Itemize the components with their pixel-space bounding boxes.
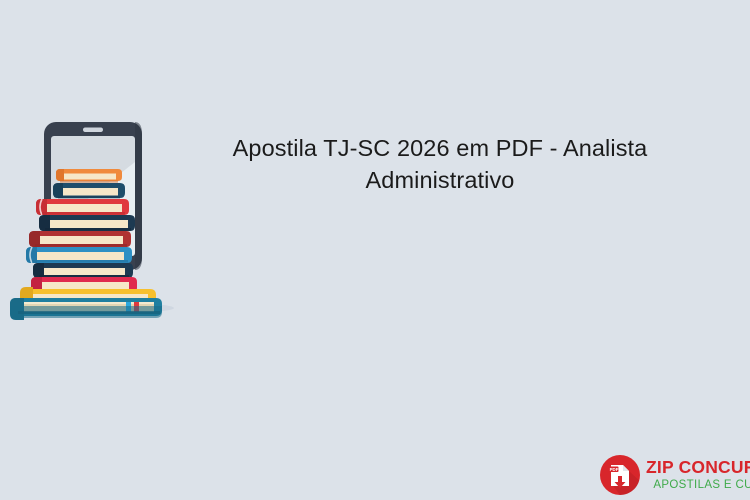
logo-title: ZIP CONCURSOS — [646, 459, 750, 477]
book-navy-top — [53, 183, 125, 198]
page-title-line-1: Apostila TJ-SC 2026 em PDF - Analista — [190, 132, 690, 164]
books-tablet-illustration — [8, 110, 188, 320]
zip-concursos-logo[interactable]: PDF ZIP CONCURSOS APOSTILAS E CURSOS — [598, 450, 748, 500]
page-canvas: Apostila TJ-SC 2026 em PDF - Analista Ad… — [0, 0, 750, 500]
svg-text:PDF: PDF — [610, 467, 619, 472]
page-title-line-2: Administrativo — [190, 164, 690, 196]
pdf-download-circle-icon: PDF — [598, 453, 642, 497]
book-teal-bottom — [10, 298, 162, 320]
book-blue — [26, 247, 132, 263]
page-title: Apostila TJ-SC 2026 em PDF - Analista Ad… — [190, 132, 690, 196]
book-navy-third — [33, 263, 133, 278]
book-navy-second — [39, 215, 135, 231]
logo-subtitle: APOSTILAS E CURSOS — [646, 480, 750, 492]
book-darkred — [29, 231, 131, 247]
book-orange — [56, 169, 122, 183]
book-red — [36, 199, 129, 215]
logo-text-block: ZIP CONCURSOS APOSTILAS E CURSOS — [646, 459, 750, 491]
tablet-speaker — [83, 128, 103, 133]
